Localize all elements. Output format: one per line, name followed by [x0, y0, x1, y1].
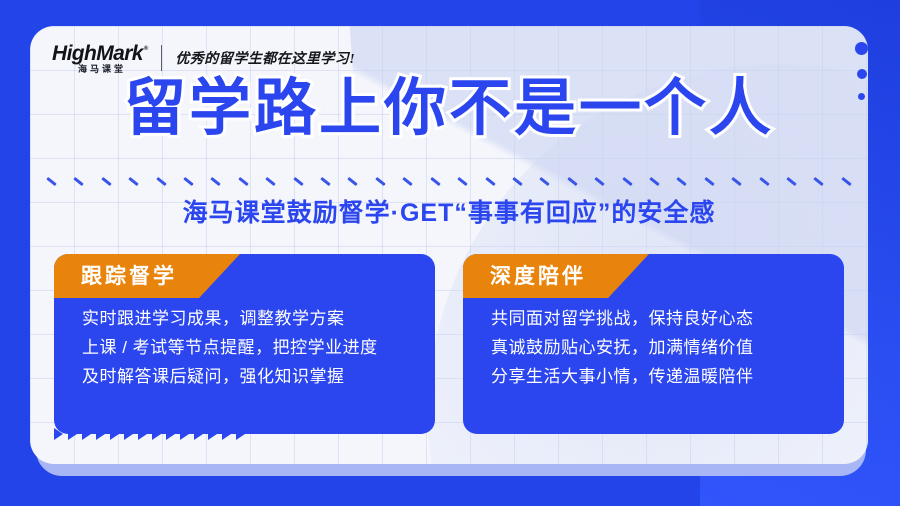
dash-mark-icon	[567, 176, 578, 185]
dash-mark-icon	[594, 176, 605, 185]
brand-header: HighMark ® 海马课堂 优秀的留学生都在这里学习!	[52, 38, 355, 78]
card-line: 实时跟进学习成果，调整教学方案	[82, 308, 419, 331]
card-tab-label: 深度陪伴	[490, 266, 586, 287]
dash-mark-icon	[759, 176, 770, 185]
dash-mark-icon	[74, 176, 85, 185]
arrow-right-icon	[54, 428, 63, 440]
card-body-companionship: 共同面对留学挑战，保持良好心态 真诚鼓励贴心安抚，加满情绪价值 分享生活大事小情…	[479, 308, 828, 389]
logo: HighMark ® 海马课堂	[52, 43, 148, 74]
content-panel: HighMark ® 海马课堂 优秀的留学生都在这里学习! 留学路上你不是一个人…	[30, 26, 868, 464]
arrow-right-icon	[166, 428, 175, 440]
arrow-right-icon	[194, 428, 203, 440]
arrow-right-icon	[124, 428, 133, 440]
dot-decoration	[855, 42, 868, 100]
card-line: 共同面对留学挑战，保持良好心态	[491, 308, 828, 331]
dash-mark-icon	[156, 176, 167, 185]
arrow-right-icon	[68, 428, 77, 440]
arrow-right-icon	[208, 428, 217, 440]
arrow-right-icon	[180, 428, 189, 440]
dash-mark-icon	[101, 176, 112, 185]
header-divider	[161, 45, 162, 71]
dot-small-icon	[858, 93, 865, 100]
logo-wordmark-text: HighMark	[52, 43, 143, 64]
arrow-right-icon	[152, 428, 161, 440]
feature-card-tracking: 跟踪督学 实时跟进学习成果，调整教学方案 上课 / 考试等节点提醒，把控学业进度…	[54, 254, 435, 434]
dash-mark-icon	[293, 176, 304, 185]
arrow-right-icon	[222, 428, 231, 440]
arrow-right-icon	[82, 428, 91, 440]
dash-mark-icon	[265, 176, 276, 185]
dash-mark-icon	[731, 176, 742, 185]
dash-mark-icon	[814, 176, 825, 185]
logo-wordmark: HighMark ®	[52, 43, 148, 64]
logo-subtitle: 海马课堂	[78, 65, 126, 74]
card-tab-label: 跟踪督学	[81, 266, 177, 287]
dash-mark-icon	[128, 176, 139, 185]
dash-mark-icon	[183, 176, 194, 185]
dash-mark-icon	[238, 176, 249, 185]
dash-mark-icon	[786, 176, 797, 185]
dash-mark-icon	[403, 176, 414, 185]
card-line: 及时解答课后疑问，强化知识掌握	[82, 366, 419, 389]
card-line: 上课 / 考试等节点提醒，把控学业进度	[82, 337, 419, 360]
dash-mark-icon	[348, 176, 359, 185]
brand-tagline: 优秀的留学生都在这里学习!	[175, 48, 355, 68]
feature-cards: 跟踪督学 实时跟进学习成果，调整教学方案 上课 / 考试等节点提醒，把控学业进度…	[54, 254, 844, 434]
dash-mark-icon	[457, 176, 468, 185]
dash-mark-icon	[320, 176, 331, 185]
dot-medium-icon	[857, 69, 867, 79]
dash-mark-icon	[622, 176, 633, 185]
headline: 留学路上你不是一个人	[36, 78, 862, 140]
dash-mark-icon	[485, 176, 496, 185]
arrow-right-icon	[96, 428, 105, 440]
feature-card-companionship: 深度陪伴 共同面对留学挑战，保持良好心态 真诚鼓励贴心安抚，加满情绪价值 分享生…	[463, 254, 844, 434]
dashed-divider	[46, 174, 852, 188]
dash-mark-icon	[841, 176, 852, 185]
card-line: 真诚鼓励贴心安抚，加满情绪价值	[491, 337, 828, 360]
card-tab-tracking: 跟踪督学	[54, 254, 240, 298]
arrow-right-icon	[138, 428, 147, 440]
promo-banner: HighMark ® 海马课堂 优秀的留学生都在这里学习! 留学路上你不是一个人…	[0, 0, 900, 506]
subtitle: 海马课堂鼓励督学·GET“事事有回应”的安全感	[36, 198, 862, 229]
dash-mark-icon	[430, 176, 441, 185]
card-tab-companionship: 深度陪伴	[463, 254, 649, 298]
registered-trademark-icon: ®	[144, 46, 148, 52]
card-line: 分享生活大事小情，传递温暖陪伴	[491, 366, 828, 389]
dash-mark-icon	[540, 176, 551, 185]
arrow-decoration	[54, 428, 245, 440]
dash-mark-icon	[677, 176, 688, 185]
arrow-right-icon	[110, 428, 119, 440]
dash-mark-icon	[512, 176, 523, 185]
dot-large-icon	[855, 42, 868, 55]
dash-mark-icon	[704, 176, 715, 185]
dash-mark-icon	[375, 176, 386, 185]
arrow-right-icon	[236, 428, 245, 440]
card-body-tracking: 实时跟进学习成果，调整教学方案 上课 / 考试等节点提醒，把控学业进度 及时解答…	[70, 308, 419, 389]
dash-mark-icon	[211, 176, 222, 185]
dash-mark-icon	[46, 176, 57, 185]
dash-mark-icon	[649, 176, 660, 185]
